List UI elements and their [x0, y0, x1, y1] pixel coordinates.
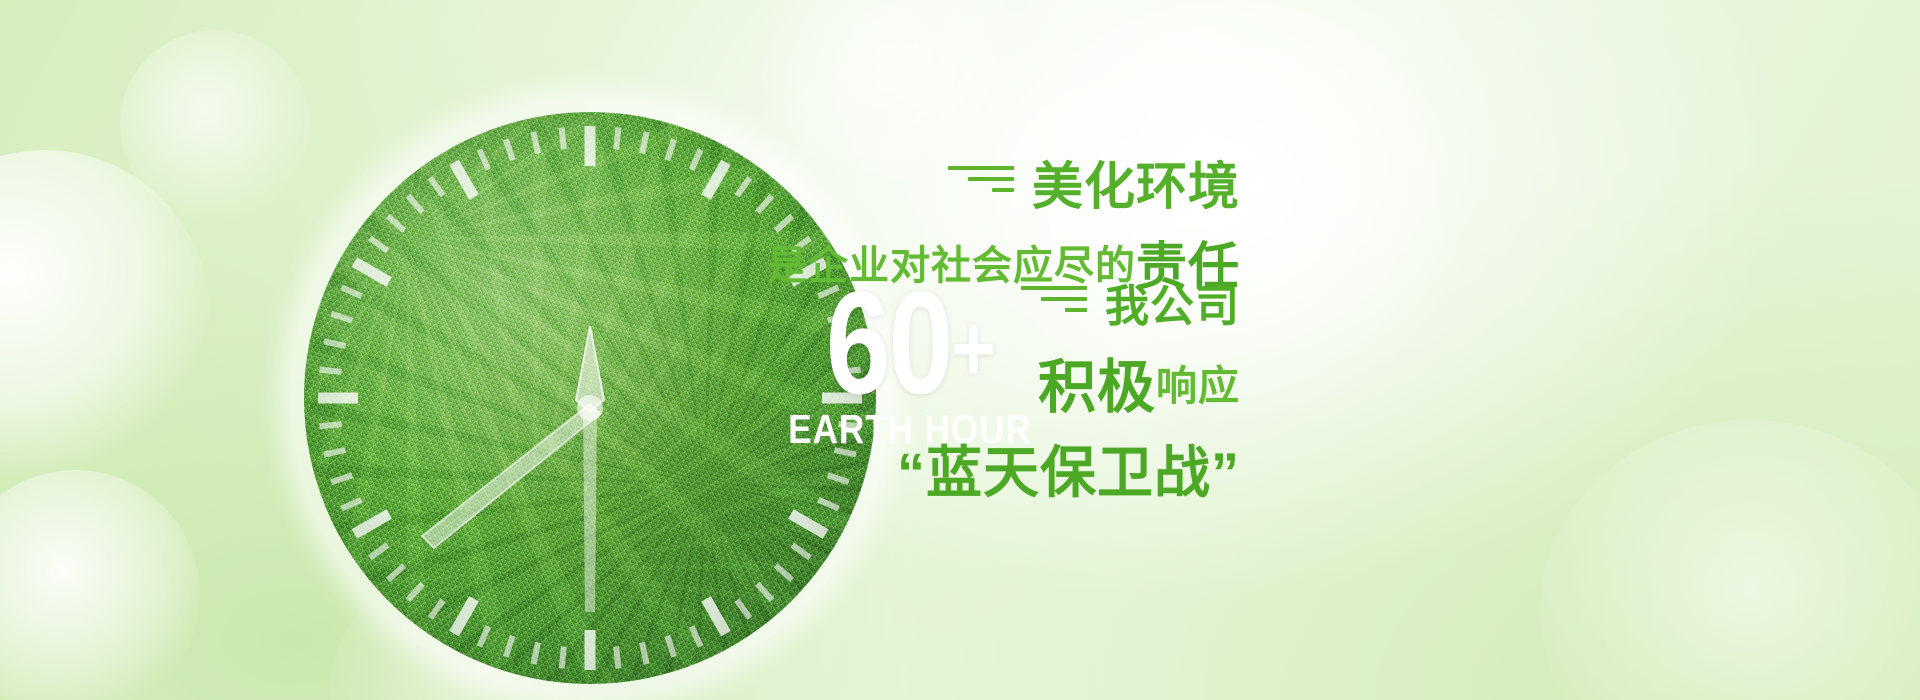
slogan-blue-sky-defense: “蓝天保卫战” [897, 428, 1240, 509]
copy-group-2-line-2: 积极响应 [897, 340, 1240, 424]
bokeh-light-1 [0, 150, 210, 480]
marketing-copy: 美化环境 是企业对社会应尽的责任 我公司 积极响应 “蓝天保卫战” [880, 120, 1880, 580]
copy-group-2-line-3: “蓝天保卫战” [897, 428, 1240, 509]
earth-hour-banner: 60+ EARTH HOUR 美化环境 是企业对社会应尽的责任 我公司 [0, 0, 1920, 700]
subline-respond: 响应 [1156, 352, 1240, 412]
triple-dash-icon [1021, 286, 1087, 312]
bokeh-light-2 [0, 470, 200, 700]
bokeh-light-3 [120, 30, 310, 220]
copy-group-2-line-1: 我公司 [897, 270, 1240, 334]
triple-dash-icon [948, 166, 1014, 192]
headline-beautify-environment: 美化环境 [1032, 145, 1240, 219]
headline-our-company: 我公司 [1105, 270, 1240, 334]
copy-group-1-line-1: 美化环境 [767, 145, 1240, 219]
subline-actively-strong: 积极 [1038, 340, 1156, 424]
copy-group-2: 我公司 积极响应 “蓝天保卫战” [897, 270, 1240, 509]
